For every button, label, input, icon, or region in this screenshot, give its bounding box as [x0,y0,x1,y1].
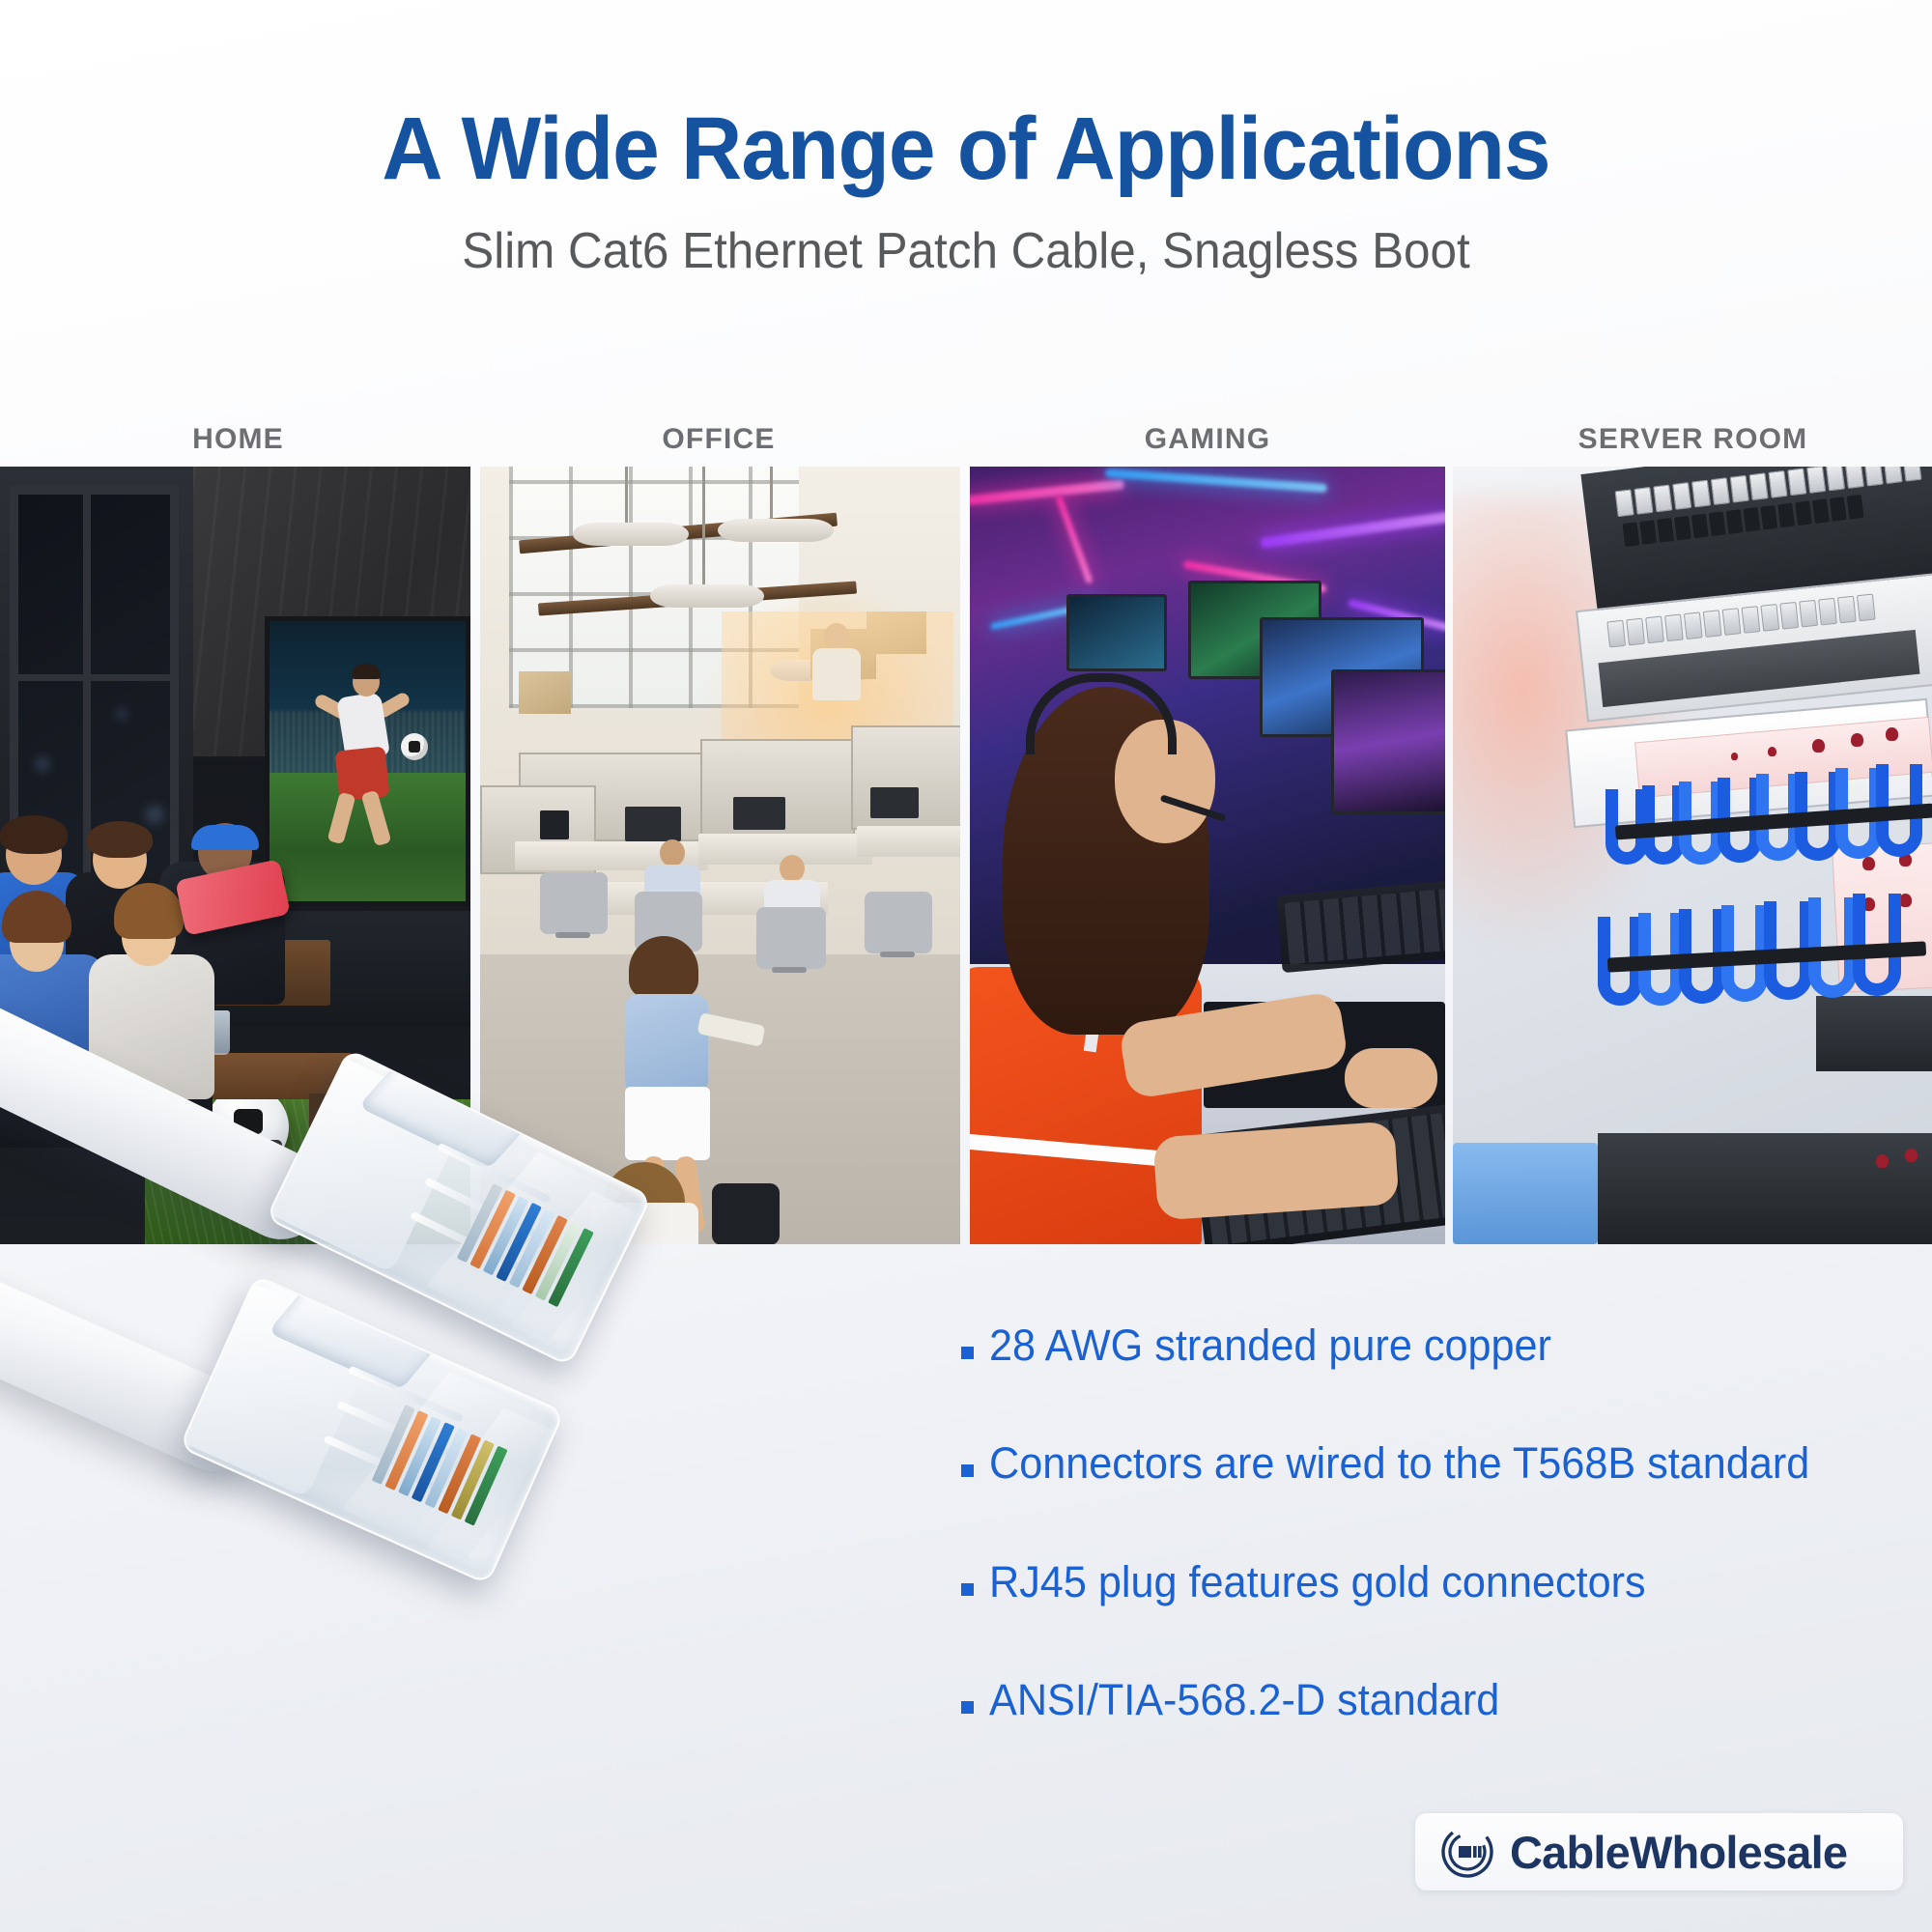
page-title: A Wide Range of Applications [48,104,1884,193]
header: A Wide Range of Applications Slim Cat6 E… [0,0,1932,280]
bullet-square-icon [961,1347,974,1359]
category-label-home: HOME [0,411,476,469]
bullet-square-icon [961,1464,974,1477]
category-label-office: OFFICE [476,411,961,469]
feature-text: ANSI/TIA-568.2-D standard [989,1676,1499,1724]
brand-name: CableWholesale [1510,1826,1847,1879]
product-cable-image [0,976,985,1633]
category-label-gaming: GAMING [961,411,1454,469]
list-item: RJ45 plug features gold connectors [961,1558,1927,1606]
bullet-square-icon [961,1583,974,1596]
list-item: 28 AWG stranded pure copper [961,1321,1927,1370]
photo-panel-server-room [1453,467,1932,1244]
list-item: ANSI/TIA-568.2-D standard [961,1676,1927,1724]
gaming-scene-image [970,467,1445,1244]
category-label-server-room: SERVER ROOM [1454,411,1932,469]
feature-text: RJ45 plug features gold connectors [989,1558,1646,1606]
page-subtitle: Slim Cat6 Ethernet Patch Cable, Snagless… [48,222,1884,280]
infographic-page: A Wide Range of Applications Slim Cat6 E… [0,0,1932,1932]
feature-bullet-list: 28 AWG stranded pure copper Connectors a… [961,1321,1927,1795]
brand-logo: CableWholesale [1415,1813,1903,1890]
photo-panel-gaming [970,467,1445,1244]
feature-text: 28 AWG stranded pure copper [989,1321,1551,1370]
bullet-square-icon [961,1701,974,1714]
category-label-row: HOME OFFICE GAMING SERVER ROOM [0,411,1932,469]
cablewholesale-circle-icon [1440,1825,1494,1879]
server-room-scene-image [1453,467,1932,1244]
feature-text: Connectors are wired to the T568B standa… [989,1439,1809,1488]
list-item: Connectors are wired to the T568B standa… [961,1439,1927,1488]
